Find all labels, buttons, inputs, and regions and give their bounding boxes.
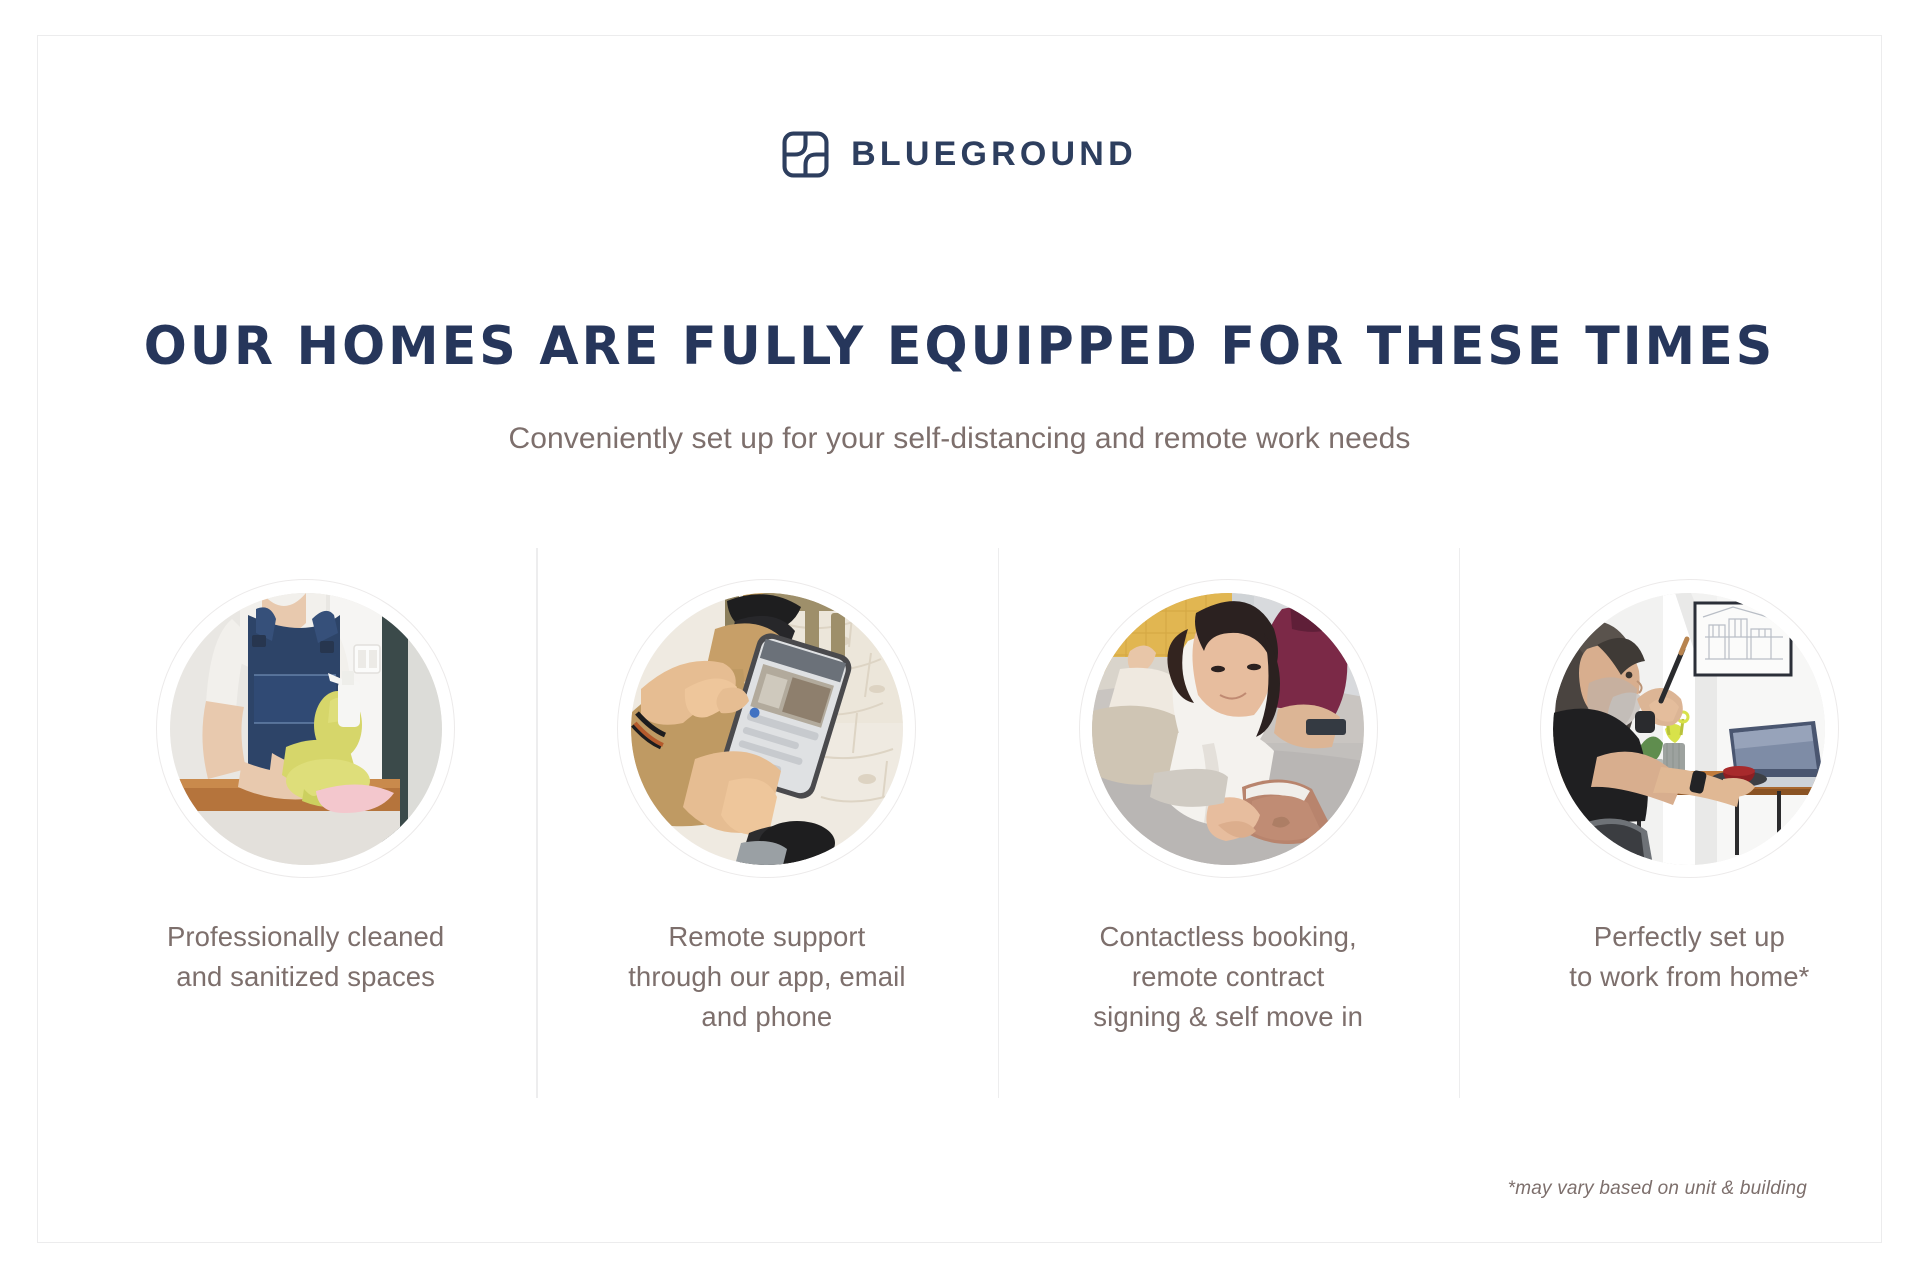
feature-item-contactless-booking: Contactless booking, remote contract sig… (998, 548, 1459, 1098)
feature-item-work-from-home: Perfectly set up to work from home* (1459, 548, 1920, 1098)
photo-contactless-booking (1092, 593, 1364, 865)
feature-caption: Professionally cleaned and sanitized spa… (167, 917, 444, 997)
page-title: OUR HOMES ARE FULLY EQUIPPED FOR THESE T… (79, 319, 1839, 375)
feature-caption: Remote support through our app, email an… (628, 917, 905, 1037)
photo-work-from-home (1553, 593, 1825, 865)
feature-photo-ring (617, 579, 916, 878)
feature-item-cleaning: Professionally cleaned and sanitized spa… (75, 548, 536, 1098)
page-subtitle: Conveniently set up for your self-distan… (38, 421, 1881, 457)
feature-list: Professionally cleaned and sanitized spa… (75, 548, 1920, 1098)
poster-canvas: BLUEGROUND OUR HOMES ARE FULLY EQUIPPED … (0, 0, 1920, 1280)
footnote-disclaimer: *may vary based on unit & building (1508, 1178, 1807, 1200)
blueground-square-logo-icon (782, 131, 829, 178)
feature-photo-ring (1540, 579, 1839, 878)
feature-caption: Contactless booking, remote contract sig… (1093, 917, 1363, 1037)
feature-caption: Perfectly set up to work from home* (1569, 917, 1809, 997)
feature-item-remote-support: Remote support through our app, email an… (536, 548, 997, 1098)
content-card: BLUEGROUND OUR HOMES ARE FULLY EQUIPPED … (37, 35, 1882, 1243)
photo-professionally-cleaned (170, 593, 442, 865)
photo-remote-support (631, 593, 903, 865)
feature-photo-ring (156, 579, 455, 878)
brand-wordmark: BLUEGROUND (851, 137, 1137, 173)
feature-photo-ring (1079, 579, 1378, 878)
brand-logo[interactable]: BLUEGROUND (38, 131, 1881, 178)
